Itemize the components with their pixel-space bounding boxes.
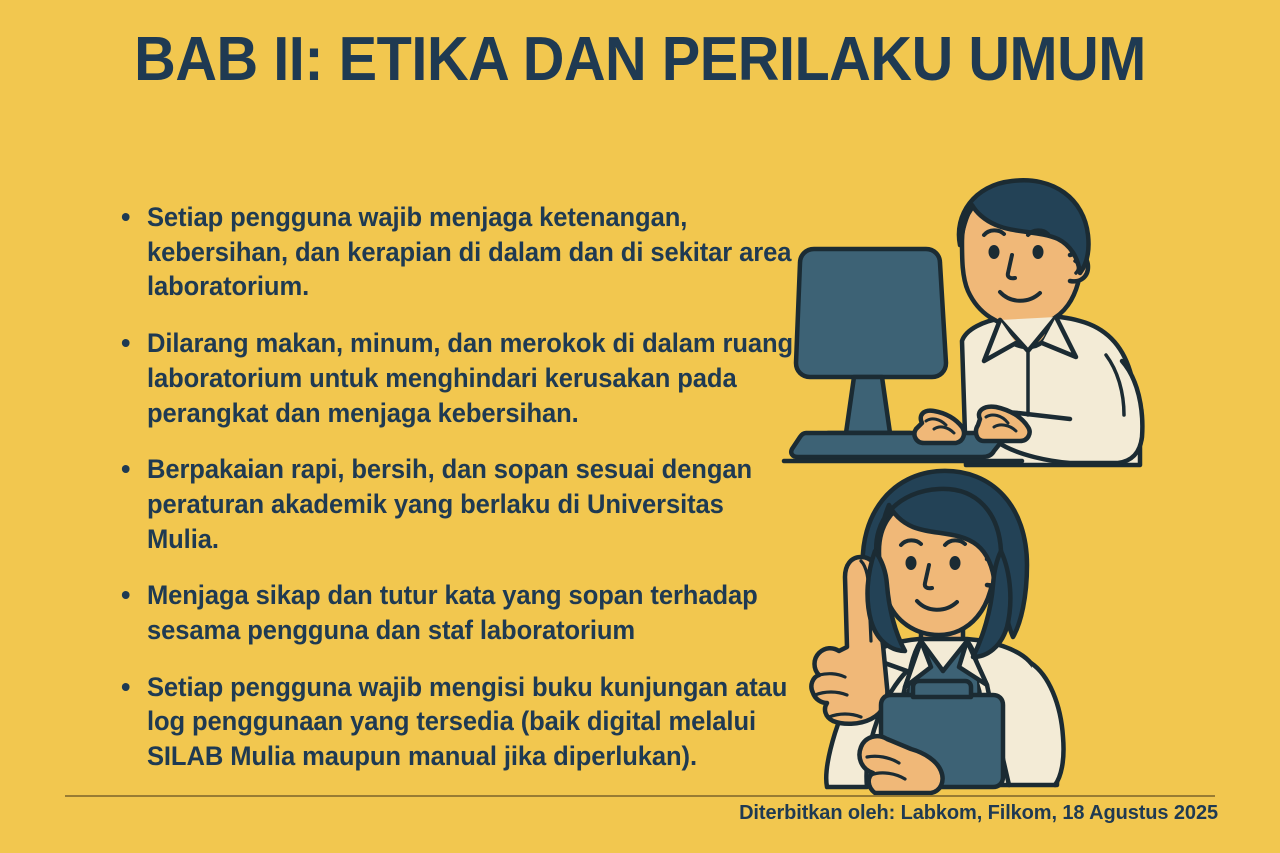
list-item: Menjaga sikap dan tutur kata yang sopan … [118,578,794,647]
man-at-computer-illustration [770,165,1170,485]
woman-with-clipboard-illustration [755,455,1175,800]
rule-text: Dilarang makan, minum, dan merokok di da… [147,328,793,427]
bullet-dot-icon [122,591,130,599]
rule-text: Setiap pengguna wajib menjaga ketenangan… [147,202,791,301]
bullet-dot-icon [122,683,130,691]
bullet-dot-icon [122,465,130,473]
rule-text: Berpakaian rapi, bersih, dan sopan sesua… [147,454,752,553]
bullet-dot-icon [122,339,130,347]
man-at-computer-graphic [770,165,1170,485]
title-block: BAB II: ETIKA DAN PERILAKU UMUM [90,28,1190,92]
rule-text: Setiap pengguna wajib mengisi buku kunju… [147,672,787,771]
footer-divider [65,795,1215,797]
bullet-dot-icon [122,213,130,221]
poster-canvas: BAB II: ETIKA DAN PERILAKU UMUM Setiap p… [0,0,1280,853]
list-item: Dilarang makan, minum, dan merokok di da… [118,326,794,430]
footer-note: Diterbitkan oleh: Labkom, Filkom, 18 Agu… [739,802,1218,825]
rules-list: Setiap pengguna wajib menjaga ketenangan… [118,200,818,774]
woman-with-clipboard-graphic [755,455,1175,800]
list-item: Setiap pengguna wajib mengisi buku kunju… [118,670,794,774]
rule-text: Menjaga sikap dan tutur kata yang sopan … [147,580,758,645]
list-item: Setiap pengguna wajib menjaga ketenangan… [118,200,794,304]
page-title: BAB II: ETIKA DAN PERILAKU UMUM [129,28,1152,92]
list-item: Berpakaian rapi, bersih, dan sopan sesua… [118,452,794,556]
